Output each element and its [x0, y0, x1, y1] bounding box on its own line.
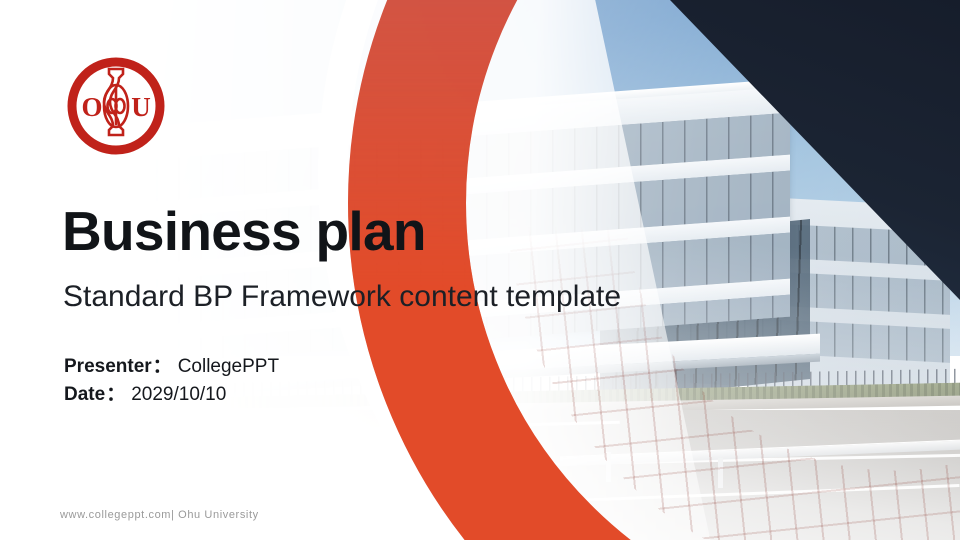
ohu-university-logo: O U — [62, 52, 170, 160]
presenter-separator: ： — [152, 356, 173, 377]
slide-footer: www.collegeppt.com| Ohu University — [60, 509, 259, 521]
date-row: Date：2029/10/10 — [64, 381, 279, 409]
slide-subtitle: Standard BP Framework content template — [63, 280, 621, 313]
presenter-row: Presenter：CollegePPT — [64, 353, 279, 381]
slide-title: Business plan — [62, 203, 426, 261]
slide-metadata: Presenter：CollegePPT Date：2029/10/10 — [64, 353, 279, 408]
logo-letter-u: U — [131, 92, 151, 122]
date-separator: ： — [105, 384, 126, 405]
presenter-value: CollegePPT — [173, 356, 279, 377]
logo-letter-o: O — [81, 92, 102, 122]
date-label: Date — [64, 384, 105, 405]
date-value: 2029/10/10 — [126, 384, 226, 405]
presenter-label: Presenter — [64, 356, 152, 377]
presentation-slide: O U Business plan Standard BP Framework … — [0, 0, 960, 540]
